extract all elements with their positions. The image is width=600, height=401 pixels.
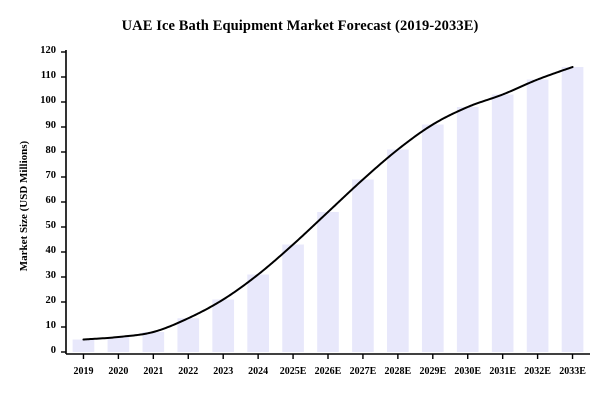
x-tick-label: 2019 (73, 366, 93, 377)
bar (143, 332, 165, 352)
y-tick-label: 110 (22, 70, 56, 81)
y-tick-label: 120 (22, 45, 56, 56)
x-tick-label: 2026E (315, 366, 342, 377)
y-tick-label: 70 (22, 170, 56, 181)
bar (282, 245, 304, 353)
bar (387, 150, 409, 353)
y-tick-label: 50 (22, 220, 56, 231)
plot-area (0, 0, 600, 401)
y-tick-label: 40 (22, 245, 56, 256)
x-tick-label: 2029E (419, 366, 446, 377)
x-tick-label: 2028E (385, 366, 412, 377)
x-tick-label: 2020 (108, 366, 128, 377)
bar (492, 95, 514, 353)
bar (527, 80, 549, 353)
x-tick-label: 2021 (143, 366, 163, 377)
y-tick-label: 30 (22, 270, 56, 281)
y-tick-label: 100 (22, 95, 56, 106)
x-tick-label: 2025E (280, 366, 307, 377)
bar (108, 337, 130, 352)
x-tick-label: 2030E (454, 366, 481, 377)
bar (73, 340, 95, 353)
y-tick-label: 80 (22, 145, 56, 156)
bar (212, 300, 234, 353)
bar-series (73, 67, 584, 352)
bar (317, 212, 339, 352)
y-tick-label: 20 (22, 295, 56, 306)
x-tick-label: 2033E (559, 366, 586, 377)
chart-figure: UAE Ice Bath Equipment Market Forecast (… (0, 0, 600, 401)
y-tick-label: 90 (22, 120, 56, 131)
bar (562, 67, 584, 352)
bar (457, 107, 479, 352)
y-tick-label: 10 (22, 320, 56, 331)
x-tick-label: 2032E (524, 366, 551, 377)
x-tick-label: 2022 (178, 366, 198, 377)
bar (422, 125, 444, 353)
x-tick-label: 2024 (248, 366, 268, 377)
bar (247, 275, 269, 353)
y-tick-label: 60 (22, 195, 56, 206)
bar (177, 318, 199, 352)
y-tick-label: 0 (22, 345, 56, 356)
x-tick-label: 2027E (350, 366, 377, 377)
bar (352, 180, 374, 353)
x-tick-label: 2023 (213, 366, 233, 377)
x-tick-label: 2031E (489, 366, 516, 377)
